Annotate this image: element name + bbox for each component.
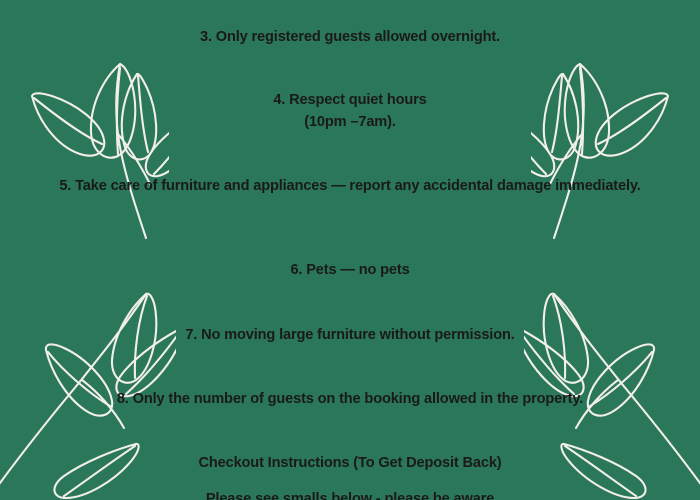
rule-item-3: 3. Only registered guests allowed overni… <box>50 27 650 49</box>
house-rules-poster: 3. Only registered guests allowed overni… <box>0 0 700 500</box>
rule-item-6: 6. Pets — no pets <box>50 260 650 282</box>
rule-item-7: 7. No moving large furniture without per… <box>50 325 650 347</box>
checkout-instructions-heading: Checkout Instructions (To Get Deposit Ba… <box>50 453 650 475</box>
checkout-clipped-line: Please see smalls below - please be awar… <box>50 489 650 500</box>
rule-item-5: 5. Take care of furniture and appliances… <box>50 176 650 198</box>
rules-text-block: 3. Only registered guests allowed overni… <box>0 0 700 500</box>
rule-item-4: 4. Respect quiet hours (10pm –7am). <box>50 90 650 133</box>
rule-item-8: 8. Only the number of guests on the book… <box>50 389 650 411</box>
